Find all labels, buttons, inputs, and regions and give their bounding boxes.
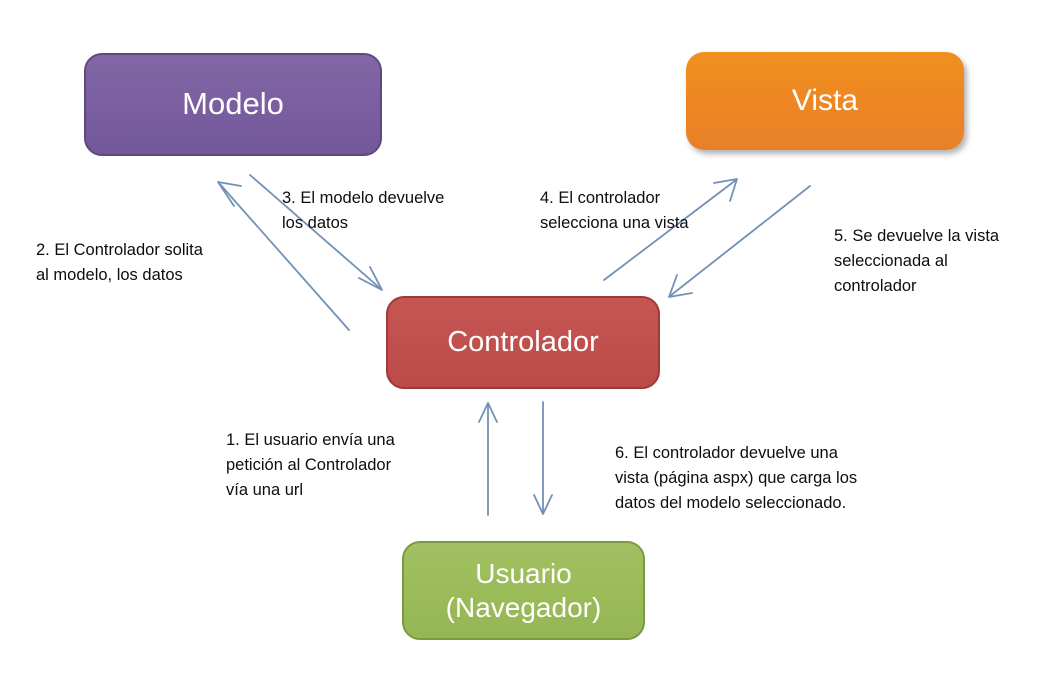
step-label-5: 5. Se devuelve la vista seleccionada al …: [834, 224, 1044, 299]
step-label-6: 6. El controlador devuelve una vista (pá…: [615, 441, 915, 516]
arrow-usuario-to-controlador: [479, 403, 497, 515]
arrow-controlador-to-usuario: [534, 402, 552, 514]
step-label-2: 2. El Controlador solita al modelo, los …: [36, 238, 258, 288]
step-label-1: 1. El usuario envía una petición al Cont…: [226, 428, 438, 503]
node-usuario[interactable]: Usuario (Navegador): [402, 541, 645, 640]
step-label-3: 3. El modelo devuelve los datos: [282, 186, 492, 236]
node-modelo[interactable]: Modelo: [84, 53, 382, 156]
mvc-diagram-canvas: Modelo Vista Controlador Usuario (Navega…: [0, 0, 1060, 677]
step-label-4: 4. El controlador selecciona una vista: [540, 186, 736, 236]
node-vista[interactable]: Vista: [686, 52, 964, 150]
node-controlador[interactable]: Controlador: [386, 296, 660, 389]
